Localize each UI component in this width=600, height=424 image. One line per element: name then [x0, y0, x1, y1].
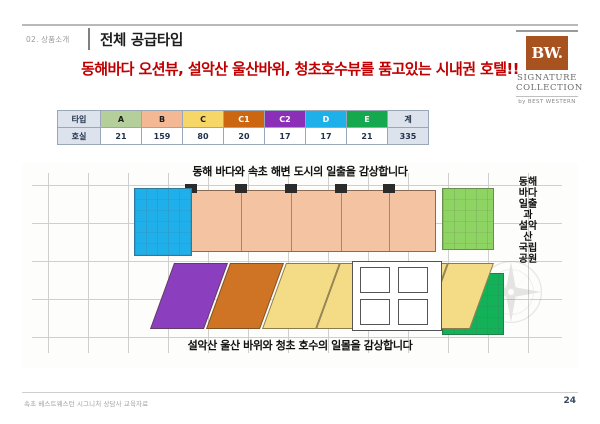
count-cell-d: 17 — [306, 128, 347, 145]
grid-line-vertical — [48, 173, 49, 353]
logo-bottom-rule — [516, 96, 578, 97]
unit-block-a — [442, 188, 494, 250]
section-kicker: 02. 상품소개 — [22, 34, 88, 45]
count-cell-e: 21 — [347, 128, 388, 145]
stair-core — [360, 299, 390, 325]
stair-core — [398, 299, 428, 325]
page-number: 24 — [563, 396, 576, 406]
logo-collection-line: COLLECTION — [516, 83, 578, 93]
footer-divider-rule — [22, 392, 578, 393]
unit-a-hatch — [443, 189, 493, 249]
page-title: 전체 공급타입 — [100, 29, 183, 50]
count-cell-a: 21 — [101, 128, 142, 145]
slide-canvas: 02. 상품소개 전체 공급타입 BW. SIGNATURE COLLECTIO… — [0, 0, 600, 424]
plan-caption-bottom: 설악산 울산 바위와 청초 호수의 일몰을 감상합니다 — [22, 337, 578, 353]
floor-plan: 동해 바다와 속초 해변 도시의 일출을 감상합니다 설악산 울산 바위와 청초… — [22, 163, 578, 368]
supply-type-table: 타입 A B C C1 C2 D E 계 호실 21 159 80 20 17 … — [57, 110, 429, 145]
type-cell-d: D — [306, 111, 347, 128]
row-header-type: 타입 — [58, 111, 101, 128]
count-cell-c2: 17 — [265, 128, 306, 145]
grid-line-vertical — [128, 173, 129, 353]
unit-d-hatch — [135, 189, 191, 255]
plan-caption-right: 동해바다 일출과 설악산 국립공원 — [518, 177, 538, 265]
count-cell-c1: 20 — [224, 128, 265, 145]
headline-text: 동해바다 오션뷰, 설악산 울산바위, 청초호수뷰를 품고있는 시내권 호텔!! — [0, 58, 600, 79]
logo-byline: by BEST WESTERN — [516, 99, 578, 105]
type-cell-e: E — [347, 111, 388, 128]
count-cell-b: 159 — [142, 128, 183, 145]
table-row-count: 호실 21 159 80 20 17 17 21 335 — [58, 128, 429, 145]
count-cell-total: 335 — [388, 128, 429, 145]
type-cell-a: A — [101, 111, 142, 128]
type-cell-total: 계 — [388, 111, 429, 128]
elevator-shaft — [360, 267, 390, 293]
table-row-type: 타입 A B C C1 C2 D E 계 — [58, 111, 429, 128]
type-cell-c2: C2 — [265, 111, 306, 128]
grid-line-vertical — [88, 173, 89, 353]
count-cell-c: 80 — [183, 128, 224, 145]
row-header-count: 호실 — [58, 128, 101, 145]
slide-header: 02. 상품소개 전체 공급타입 — [22, 26, 578, 52]
footer-note: 속초 베스트웨스턴 시그니처 상담사 교육자료 — [24, 398, 148, 408]
grid-line-horizontal — [32, 185, 562, 186]
elevator-shaft — [398, 267, 428, 293]
type-cell-b: B — [142, 111, 183, 128]
plan-caption-top: 동해 바다와 속초 해변 도시의 일출을 감상합니다 — [22, 163, 578, 179]
logo-top-rule — [516, 30, 578, 32]
type-cell-c: C — [183, 111, 224, 128]
unit-block-d — [134, 188, 192, 256]
type-cell-c1: C1 — [224, 111, 265, 128]
title-divider — [88, 28, 90, 50]
